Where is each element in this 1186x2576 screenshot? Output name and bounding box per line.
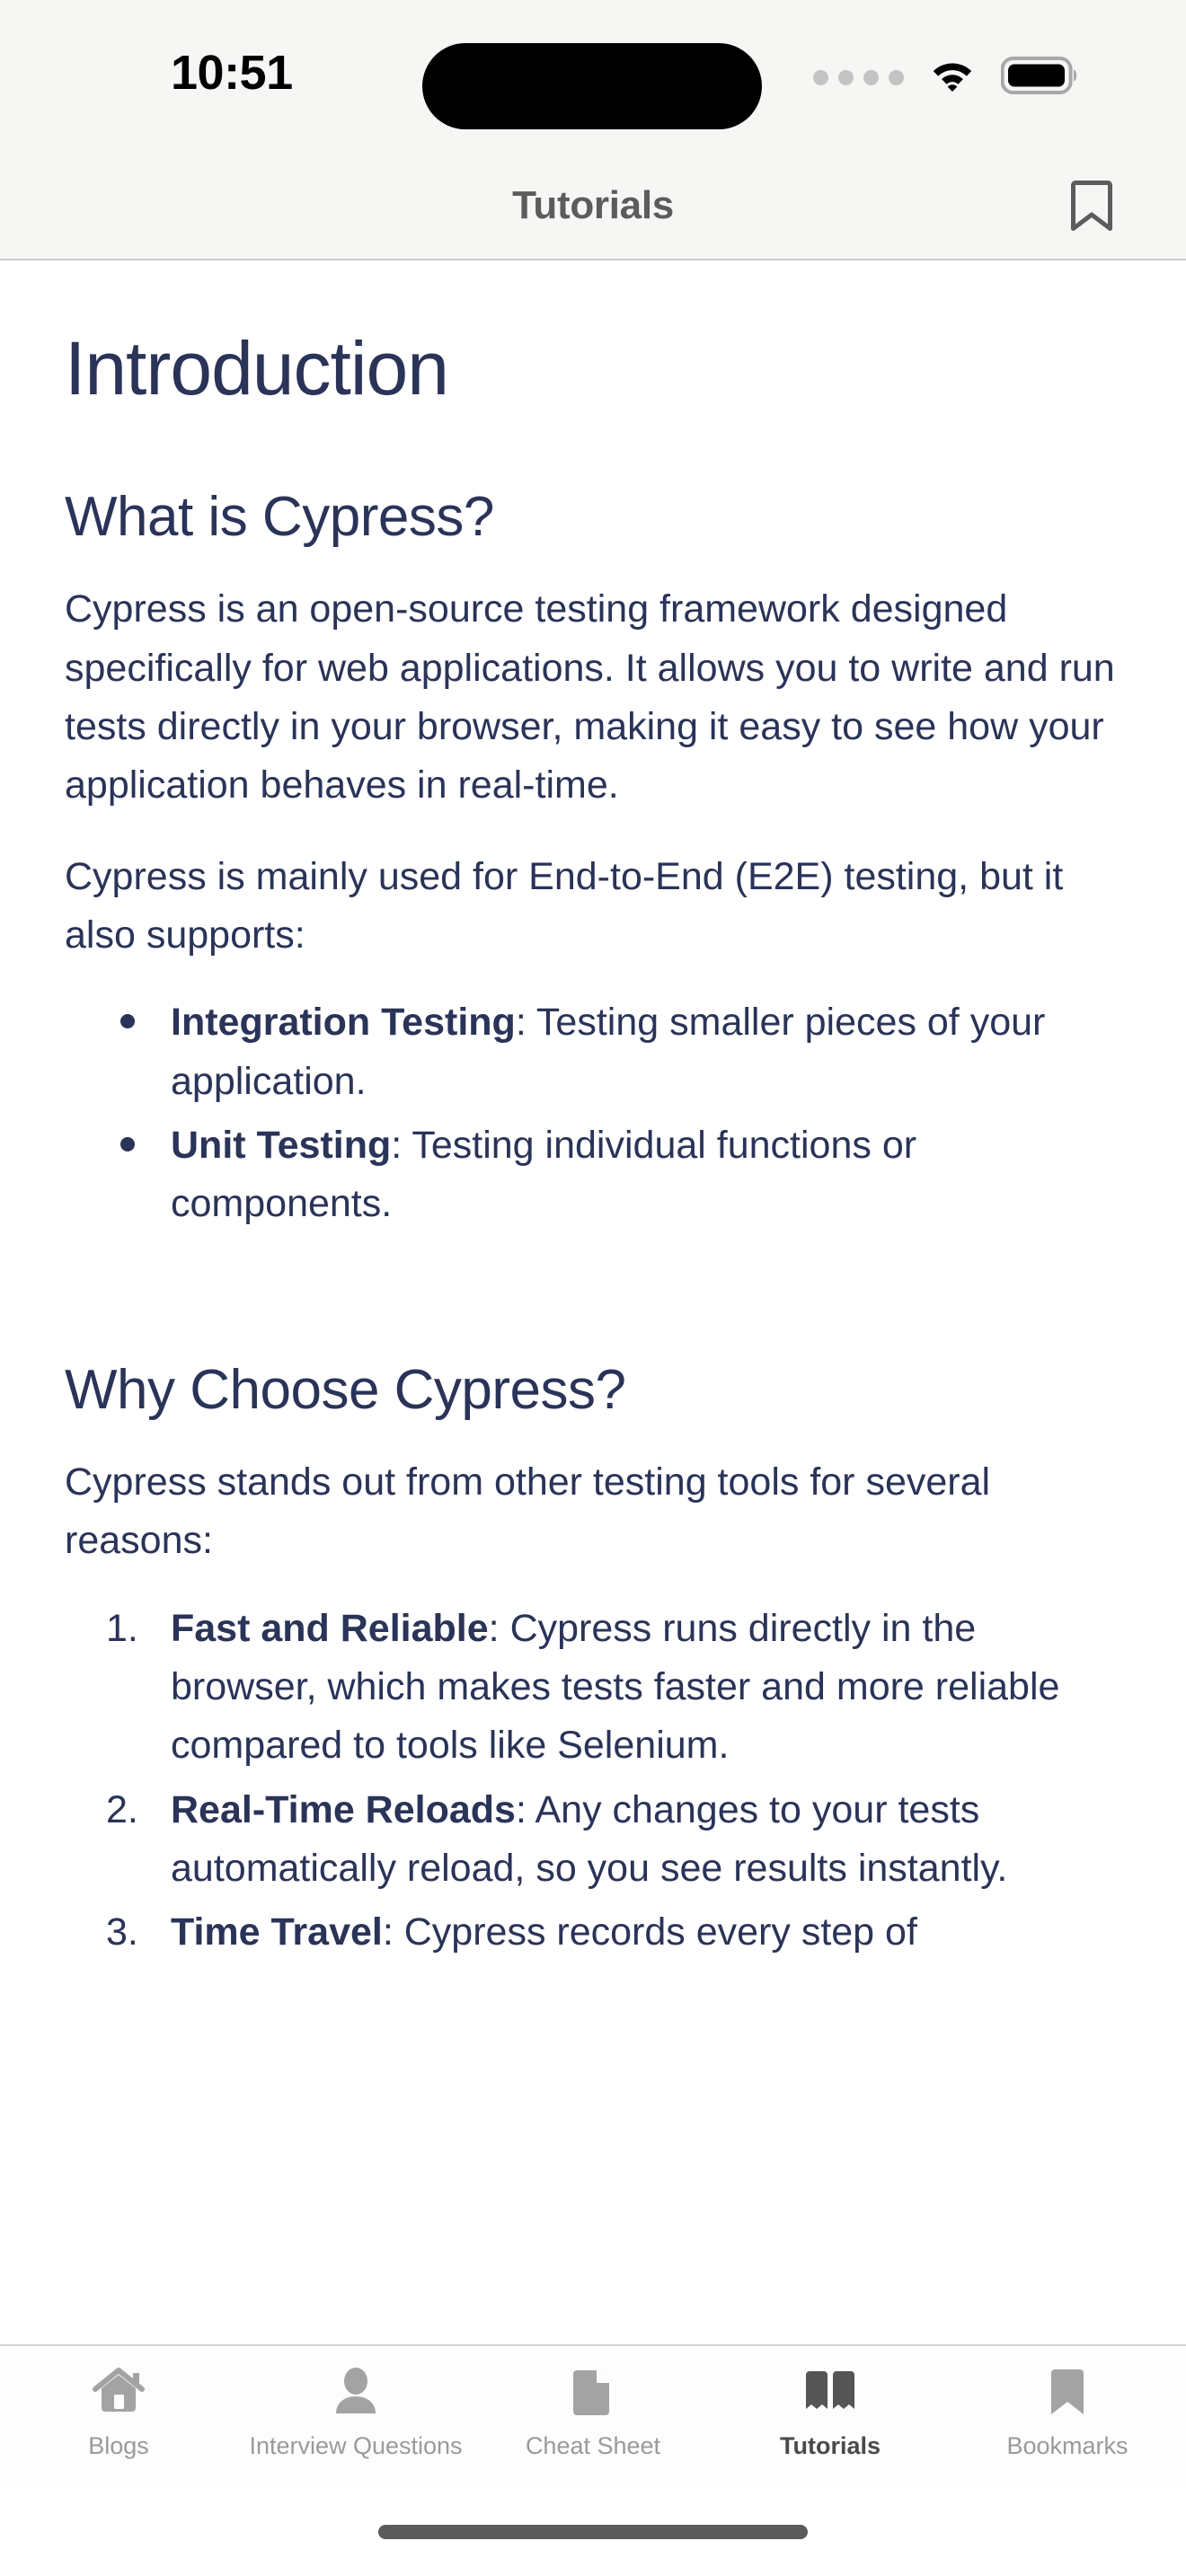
paragraph-what-is-cypress-2: Cypress is mainly used for End-to-End (E… — [65, 848, 1121, 966]
list-item-lead: Integration Testing — [171, 1001, 516, 1044]
wifi-icon — [929, 57, 976, 98]
paragraph-why-choose-cypress-1: Cypress stands out from other testing to… — [65, 1453, 1121, 1571]
tab-tutorials[interactable]: Tutorials — [712, 2364, 949, 2460]
list-item: Integration Testing: Testing smaller pie… — [171, 993, 1121, 1111]
bottom-tab-bar: Blogs Interview Questions Cheat Sheet — [0, 2344, 1186, 2488]
open-book-icon — [802, 2364, 858, 2420]
status-bar-time: 10:51 — [171, 45, 293, 101]
tab-bookmarks[interactable]: Bookmarks — [949, 2364, 1186, 2460]
list-item-lead: Fast and Reliable — [171, 1607, 489, 1650]
tab-label: Interview Questions — [249, 2432, 462, 2460]
tab-cheat-sheet[interactable]: Cheat Sheet — [474, 2364, 712, 2460]
tab-blogs[interactable]: Blogs — [0, 2364, 237, 2460]
bookmark-outline-icon[interactable] — [1064, 172, 1120, 239]
tab-label: Cheat Sheet — [526, 2432, 660, 2460]
phone-screen: 10:51 Tutorials — [0, 0, 1186, 2576]
list-item: Fast and Reliable: Cypress runs directly… — [171, 1600, 1121, 1776]
home-indicator-area — [0, 2488, 1186, 2576]
supported-testing-list: Integration Testing: Testing smaller pie… — [65, 993, 1121, 1233]
bookmark-filled-icon — [1048, 2364, 1087, 2420]
page-title: Tutorials — [512, 183, 674, 228]
reasons-list: Fast and Reliable: Cypress runs directly… — [65, 1600, 1121, 1963]
tab-label: Bookmarks — [1006, 2432, 1128, 2460]
home-indicator[interactable] — [378, 2525, 808, 2539]
list-item: Unit Testing: Testing individual functio… — [171, 1116, 1121, 1234]
battery-full-icon — [1001, 56, 1080, 100]
home-icon — [93, 2364, 145, 2420]
section-heading-why-choose-cypress: Why Choose Cypress? — [65, 1360, 1121, 1421]
list-item: Real-Time Reloads: Any changes to your t… — [171, 1781, 1121, 1899]
person-icon — [332, 2364, 379, 2420]
article-title: Introduction — [65, 331, 1121, 406]
status-bar: 10:51 — [0, 0, 1186, 153]
signal-dots-icon — [813, 70, 904, 85]
list-item: Time Travel: Cypress records every step … — [171, 1903, 1121, 1962]
list-item-rest: : Cypress records every step of — [383, 1910, 917, 1954]
list-item-lead: Time Travel — [171, 1910, 383, 1954]
document-icon — [571, 2364, 615, 2420]
article-content[interactable]: Introduction What is Cypress? Cypress is… — [0, 260, 1186, 2344]
tab-interview-questions[interactable]: Interview Questions — [237, 2364, 474, 2460]
paragraph-what-is-cypress-1: Cypress is an open-source testing framew… — [65, 580, 1121, 815]
dynamic-island — [422, 43, 762, 129]
navigation-bar: Tutorials — [0, 153, 1186, 260]
list-item-lead: Unit Testing — [171, 1124, 391, 1167]
tab-label: Tutorials — [780, 2432, 881, 2460]
section-heading-what-is-cypress: What is Cypress? — [65, 487, 1121, 548]
list-item-lead: Real-Time Reloads — [171, 1788, 516, 1831]
tab-label: Blogs — [88, 2432, 149, 2460]
status-bar-indicators — [813, 56, 1080, 100]
